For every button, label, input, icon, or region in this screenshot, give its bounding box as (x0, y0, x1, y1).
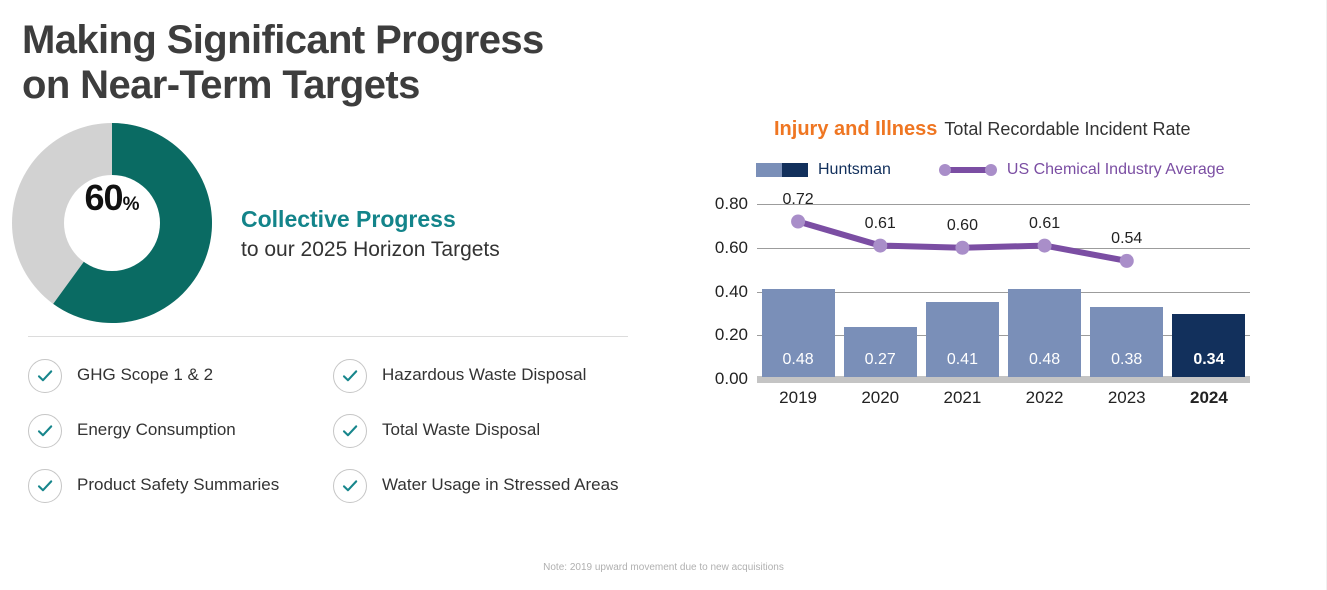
injury-illness-chart: Injury and IllnessTotal Recordable Incid… (700, 110, 1300, 410)
checklist-item-hazardous-waste: Hazardous Waste Disposal (333, 348, 638, 403)
checklist-item-water-usage: Water Usage in Stressed Areas (333, 458, 638, 513)
bar-2019[interactable]: 0.48 (762, 289, 835, 377)
y-axis-tick-label: 0.00 (700, 369, 748, 389)
x-axis-label-2020: 2020 (839, 388, 921, 408)
check-circle-icon (28, 469, 62, 503)
collective-progress-heading: Collective Progress (241, 205, 571, 234)
bar-2021[interactable]: 0.41 (926, 302, 999, 377)
chart-footnote: Note: 2019 upward movement due to new ac… (0, 562, 1327, 573)
donut-percent-sign: % (123, 194, 140, 216)
chart-plot-area: 0.000.200.400.600.800.480.270.410.480.38… (700, 110, 1300, 410)
checklist-item-label: Product Safety Summaries (77, 475, 279, 496)
bar-2020[interactable]: 0.27 (844, 327, 917, 377)
checklist-item-label: Total Waste Disposal (382, 420, 540, 441)
bar-2022[interactable]: 0.48 (1008, 289, 1081, 377)
bar-group: 0.480.270.410.480.380.34 (757, 110, 1250, 410)
trend-value-label: 0.61 (1029, 215, 1060, 233)
check-circle-icon (333, 469, 367, 503)
check-circle-icon (333, 414, 367, 448)
donut-value: 60 (85, 177, 123, 219)
trend-value-label: 0.54 (1111, 230, 1142, 248)
bar-value-label: 0.38 (1090, 351, 1163, 369)
checklist-row: GHG Scope 1 & 2 Hazardous Waste Disposal (28, 348, 638, 403)
bar-value-label: 0.27 (844, 351, 917, 369)
bar-value-label: 0.34 (1172, 351, 1245, 369)
checklist-item-label: Water Usage in Stressed Areas (382, 475, 619, 496)
section-divider (28, 336, 628, 337)
checklist-item-ghg-scope: GHG Scope 1 & 2 (28, 348, 333, 403)
x-axis-label-2021: 2021 (921, 388, 1003, 408)
trend-value-label: 0.61 (865, 215, 896, 233)
title-line-2: on Near-Term Targets (22, 63, 622, 108)
checklist-item-label: Hazardous Waste Disposal (382, 365, 586, 386)
y-axis-tick-label: 0.80 (700, 194, 748, 214)
checklist-item-product-safety: Product Safety Summaries (28, 458, 333, 513)
checklist-item-label: Energy Consumption (77, 420, 236, 441)
bar-2024[interactable]: 0.34 (1172, 314, 1245, 377)
title-line-1: Making Significant Progress (22, 18, 544, 62)
trend-value-label: 0.72 (783, 191, 814, 209)
checklist-item-energy-consumption: Energy Consumption (28, 403, 333, 458)
trend-value-label: 0.60 (947, 217, 978, 235)
y-axis-tick-label: 0.60 (700, 238, 748, 258)
bar-value-label: 0.48 (1008, 351, 1081, 369)
bar-value-label: 0.48 (762, 351, 835, 369)
checklist-item-total-waste: Total Waste Disposal (333, 403, 638, 458)
donut-center-label: 60 % (66, 177, 158, 269)
checklist-row: Energy Consumption Total Waste Disposal (28, 403, 638, 458)
collective-progress-subheading: to our 2025 Horizon Targets (241, 236, 571, 263)
y-axis-tick-label: 0.20 (700, 325, 748, 345)
check-circle-icon (28, 359, 62, 393)
x-axis-label-2019: 2019 (757, 388, 839, 408)
page-title: Making Significant Progress on Near-Term… (22, 18, 622, 108)
checklist-item-label: GHG Scope 1 & 2 (77, 365, 213, 386)
x-axis-label-2022: 2022 (1004, 388, 1086, 408)
targets-checklist: GHG Scope 1 & 2 Hazardous Waste Disposal… (28, 348, 638, 513)
bar-value-label: 0.41 (926, 351, 999, 369)
checklist-row: Product Safety Summaries Water Usage in … (28, 458, 638, 513)
x-axis-label-2024: 2024 (1168, 388, 1250, 408)
y-axis-tick-label: 0.40 (700, 282, 748, 302)
collective-progress-text: Collective Progress to our 2025 Horizon … (241, 205, 571, 263)
collective-progress-donut: 60 % (12, 123, 212, 323)
bar-2023[interactable]: 0.38 (1090, 307, 1163, 377)
x-axis-label-2023: 2023 (1086, 388, 1168, 408)
check-circle-icon (28, 414, 62, 448)
slide: Making Significant Progress on Near-Term… (0, 0, 1327, 590)
check-circle-icon (333, 359, 367, 393)
